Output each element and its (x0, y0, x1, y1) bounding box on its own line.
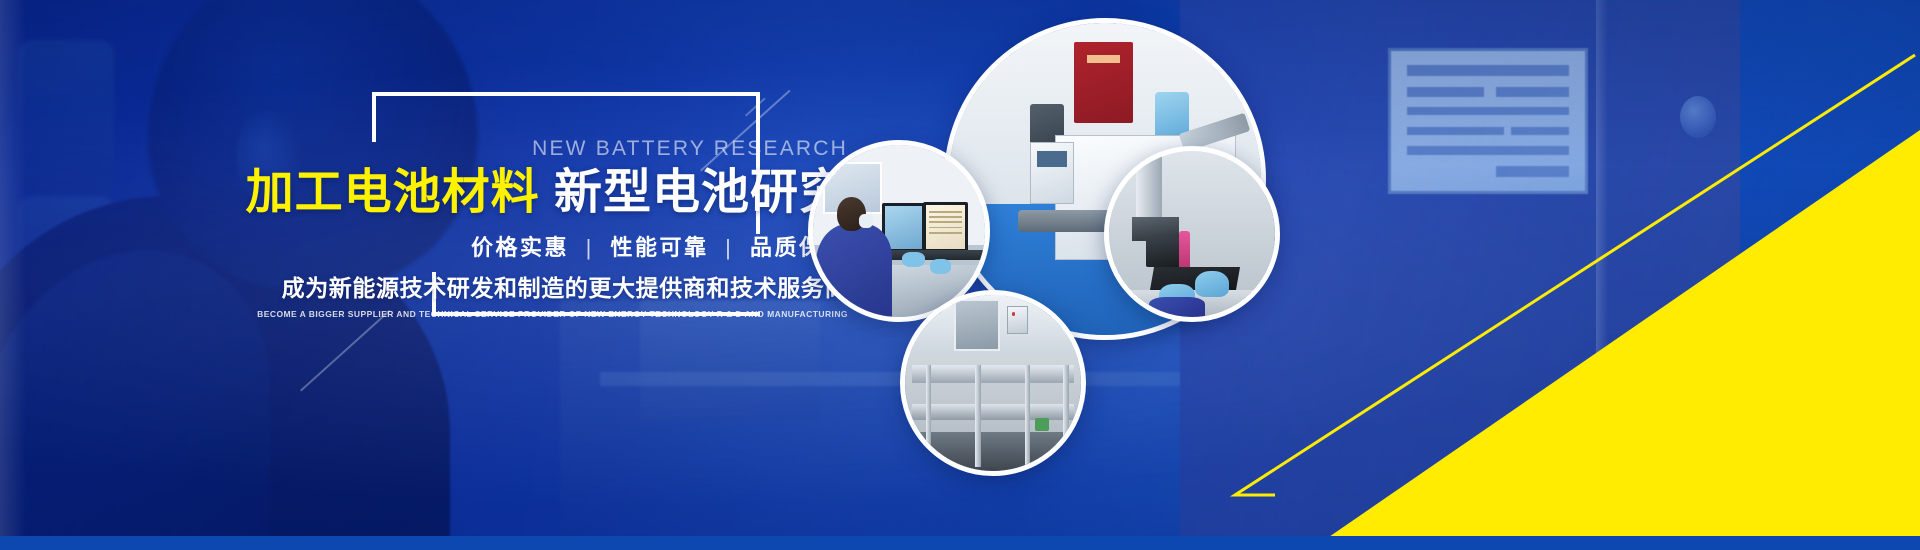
frame-left-rule (372, 92, 376, 142)
tagline-item-1: 价格实惠 (471, 235, 569, 260)
feature-tagline: 价格实惠 | 性能可靠 | 品质保证 (230, 230, 870, 262)
tagline-separator-1: | (578, 235, 602, 260)
hero-banner: NEW BATTERY RESEARCH 加工电池材料 新型电池研究 价格实惠 … (0, 0, 1920, 550)
headline-yellow: 加工电池材料 (246, 166, 540, 219)
frame-top-rule (372, 92, 760, 96)
subline-text: 成为新能源技术研发和制造的更大提供商和技术服务商 (230, 269, 870, 303)
photo-assembly-line-racks (905, 295, 1081, 471)
tagline-item-2: 性能可靠 (611, 235, 709, 260)
subline-english-text: BECOME A BIGGER SUPPLIER AND TECHNICAL S… (230, 309, 870, 319)
bottom-blue-strip (0, 536, 1920, 550)
hero-copy: NEW BATTERY RESEARCH 加工电池材料 新型电池研究 价格实惠 … (230, 138, 870, 319)
photo-circle-press-tool (1104, 146, 1280, 322)
headline-white: 新型电池研究 (554, 166, 848, 219)
eyebrow-text: NEW BATTERY RESEARCH (230, 138, 870, 159)
tagline-separator-2: | (717, 235, 741, 260)
photo-operator-at-monitors (813, 145, 985, 317)
background-left-edge-bar (0, 0, 26, 550)
photo-circle-assembly-line (900, 290, 1086, 476)
photo-press-tool-gloved-hands (1109, 151, 1275, 317)
wedge-shape (1310, 130, 1920, 550)
page-title: 加工电池材料 新型电池研究 (230, 165, 870, 221)
